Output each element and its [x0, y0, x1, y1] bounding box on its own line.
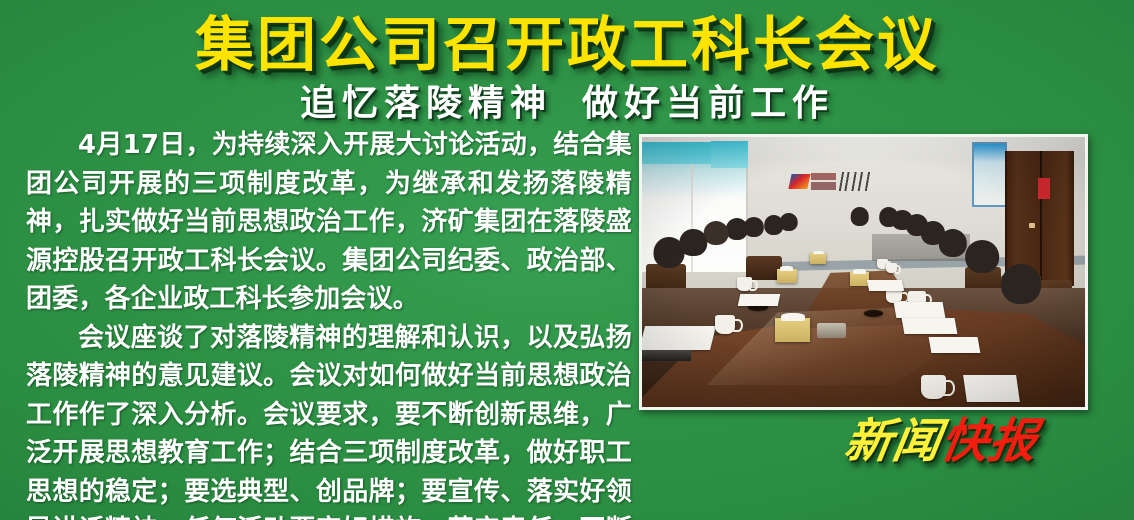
photo-door-handle	[1029, 223, 1035, 227]
article-paragraph-2: 会议座谈了对落陵精神的理解和认识，以及弘扬落陵精神的意见建议。会议对如何做好当前…	[26, 319, 632, 520]
attendee-head	[850, 207, 869, 226]
photo-tissue-box	[850, 272, 869, 286]
photo-tissue-box	[810, 253, 826, 264]
photo-mug	[737, 277, 752, 291]
photo-document	[963, 375, 1020, 402]
photo-door-notice	[1038, 178, 1050, 200]
photo-document	[929, 337, 981, 353]
page-subtitle: 追忆落陵精神做好当前工作	[0, 81, 1134, 125]
photo-mug	[715, 315, 735, 334]
photo-table-grommet	[864, 310, 884, 317]
poster-root: 集团公司召开政工科长会议 追忆落陵精神做好当前工作 4月17日，为持续深入开展大…	[0, 0, 1134, 520]
photo-document	[738, 294, 780, 306]
attendee-head	[653, 237, 684, 268]
subtitle-part-2: 做好当前工作	[582, 82, 834, 124]
company-logo-name	[839, 172, 874, 191]
article-body: 4月17日，为持续深入开展大讨论活动，结合集团公司开展的三项制度改革，为继承和发…	[26, 126, 632, 520]
subtitle-part-1: 追忆落陵精神	[300, 82, 552, 124]
photo-tissue-box	[777, 269, 796, 283]
photo-document	[642, 326, 716, 350]
page-title: 集团公司召开政工科长会议	[0, 10, 1134, 80]
photo-notebook	[642, 350, 691, 361]
attendee-head	[704, 221, 729, 246]
attendee-head	[939, 229, 967, 257]
article-paragraph-1: 4月17日，为持续深入开展大讨论活动，结合集团公司开展的三项制度改革，为继承和发…	[26, 126, 632, 319]
photo-window-second	[711, 141, 749, 168]
attendee-head	[726, 218, 748, 240]
photo-ashtray	[817, 323, 846, 338]
news-photo-frame	[639, 134, 1088, 410]
attendee-head	[1001, 264, 1041, 304]
photo-wall-logo	[790, 172, 874, 191]
photo-window-right	[972, 142, 1007, 207]
company-logo-icon	[789, 174, 811, 189]
company-logo-abbr	[811, 173, 836, 190]
stamp-text-red: 快报	[937, 414, 1042, 469]
photo-document	[902, 318, 958, 334]
photo-tissue-box	[775, 318, 810, 342]
status-badge: 新闻快报	[841, 416, 1041, 468]
photo-mug	[886, 263, 898, 274]
photo-mug	[921, 375, 946, 399]
photo-document	[893, 302, 945, 318]
attendee-head	[965, 240, 999, 274]
stamp-text-yellow: 新闻	[841, 414, 946, 469]
news-photo	[642, 137, 1085, 407]
photo-document	[867, 280, 905, 291]
